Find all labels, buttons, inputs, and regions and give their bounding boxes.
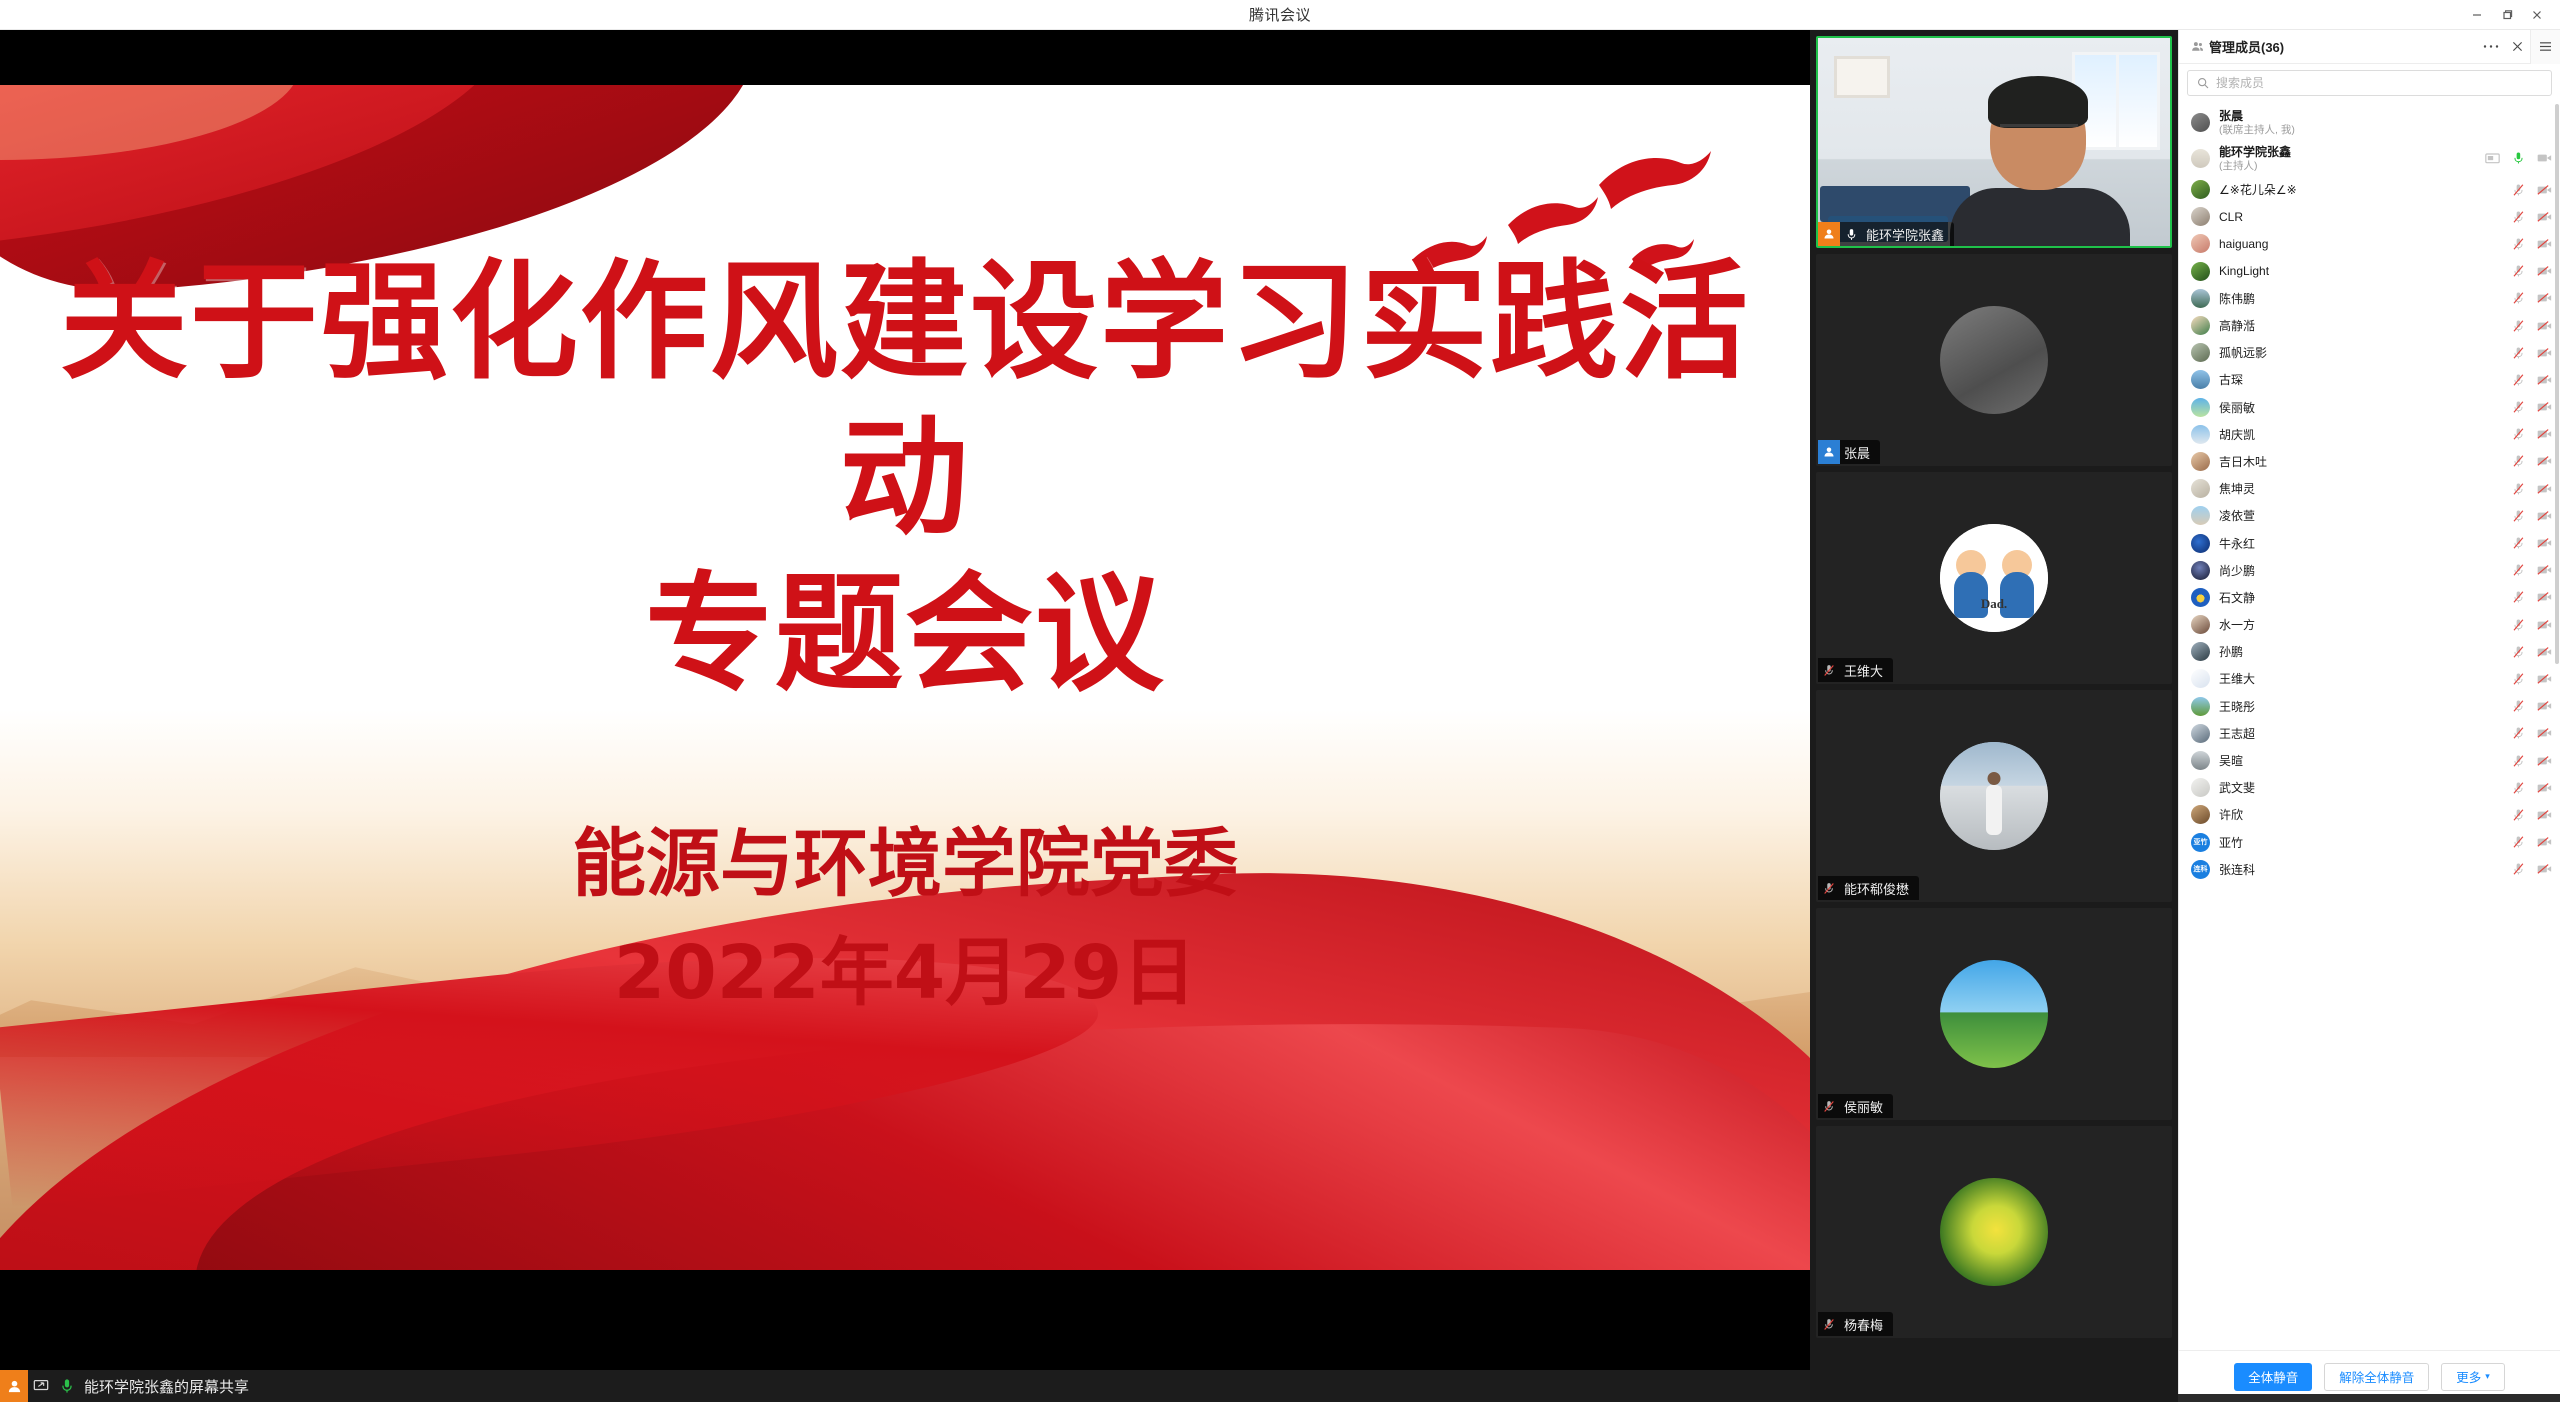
mic-muted-icon (1818, 1094, 1840, 1118)
panel-header-actions (2478, 30, 2560, 64)
camera-off-icon[interactable] (2537, 318, 2552, 333)
window-titlebar: 腾讯会议 (0, 0, 2560, 30)
participant-name: 孙鹏 (2219, 643, 2243, 660)
mic-muted-icon[interactable] (2511, 236, 2526, 251)
participant-name: 焦坤灵 (2219, 480, 2255, 497)
glasses (2000, 124, 2078, 139)
participant-name: 石文静 (2219, 589, 2255, 606)
mic-muted-icon (1818, 1312, 1840, 1336)
avatar: 连科 (2191, 860, 2210, 879)
camera-off-icon[interactable] (2537, 726, 2552, 741)
video-tile[interactable]: 杨春梅 (1816, 1126, 2172, 1338)
camera-off-icon[interactable] (2537, 481, 2552, 496)
panel-bottom-strip (2178, 1394, 2560, 1402)
participant-row[interactable]: 吉日木吐 (2179, 448, 2560, 475)
mic-muted-icon[interactable] (2511, 454, 2526, 469)
participant-row[interactable]: 许欣 (2179, 801, 2560, 828)
screen-share-icon (28, 1370, 54, 1402)
participant-info: 高静湉 (2219, 317, 2255, 334)
participant-info: 孙鹏 (2219, 643, 2243, 660)
participant-name: ∠※花儿朵∠※ (2219, 181, 2297, 198)
participant-row[interactable]: 能环学院张鑫(主持人) (2179, 140, 2560, 176)
participant-status-icons (2511, 400, 2552, 415)
participant-row[interactable]: 焦坤灵 (2179, 475, 2560, 502)
participant-name: 尚少鹏 (2219, 562, 2255, 579)
more-button-label: 更多 (2456, 1367, 2481, 1386)
participant-row[interactable]: 胡庆凯 (2179, 421, 2560, 448)
hamburger-menu-icon[interactable] (2530, 30, 2560, 64)
camera-off-icon[interactable] (2537, 427, 2552, 442)
camera-off-icon[interactable] (2537, 753, 2552, 768)
avatar (2191, 615, 2210, 634)
participant-name: 古琛 (2219, 371, 2243, 388)
participant-row[interactable]: 张晨(联席主持人, 我) (2179, 104, 2560, 140)
minimize-button[interactable] (2462, 0, 2492, 30)
mic-muted-icon[interactable] (2511, 400, 2526, 415)
screen-share-status-bar: 能环学院张鑫的屏幕共享 (0, 1370, 1810, 1402)
avatar (2191, 289, 2210, 308)
participant-row[interactable]: ∠※花儿朵∠※ (2179, 176, 2560, 203)
window-controls (2462, 0, 2552, 30)
participant-info: 张连科 (2219, 861, 2255, 878)
camera-off-icon[interactable] (2537, 291, 2552, 306)
camera-off-icon[interactable] (2537, 400, 2552, 415)
mute-all-button[interactable]: 全体静音 (2234, 1363, 2312, 1391)
participant-info: CLR (2219, 210, 2243, 224)
participant-info: 吴暄 (2219, 752, 2243, 769)
avatar (2191, 534, 2210, 553)
participant-name: 能环学院张鑫 (2219, 143, 2291, 160)
meeting-window-body: 关于强化作风建设学习实践活动 专题会议 能源与环境学院党委 2022年4月29日… (0, 30, 2560, 1402)
avatar (2191, 398, 2210, 417)
microphone-icon (54, 1370, 80, 1402)
avatar (2191, 724, 2210, 743)
participant-name: KingLight (2219, 264, 2269, 278)
participant-name: 牛永红 (2219, 535, 2255, 552)
camera-off-icon[interactable] (2537, 182, 2552, 197)
slide-subtitle: 能源与环境学院党委 (0, 815, 1810, 915)
avatar (1940, 960, 2048, 1068)
camera-off-icon[interactable] (2537, 236, 2552, 251)
video-tile-name: 侯丽敏 (1840, 1097, 1883, 1116)
participant-status-icons (2511, 617, 2552, 632)
participant-info: 侯丽敏 (2219, 399, 2255, 416)
camera-off-icon[interactable] (2537, 590, 2552, 605)
video-tile[interactable]: 侯丽敏 (1816, 908, 2172, 1120)
mic-muted-icon[interactable] (2511, 291, 2526, 306)
participant-name: 高静湉 (2219, 317, 2255, 334)
video-tile-name: 能环郗俊懋 (1840, 879, 1909, 898)
mic-muted-icon[interactable] (2511, 807, 2526, 822)
person-body (1950, 188, 2130, 248)
participant-row[interactable]: 石文静 (2179, 584, 2560, 611)
mic-muted-icon[interactable] (2511, 318, 2526, 333)
video-tile-name: 能环学院张鑫 (1862, 225, 1944, 244)
participant-row[interactable]: 水一方 (2179, 611, 2560, 638)
video-tile-name: 王维大 (1840, 661, 1883, 680)
participant-status-icons (2511, 291, 2552, 306)
camera-off-icon[interactable] (2537, 807, 2552, 822)
participant-info: 胡庆凯 (2219, 426, 2255, 443)
mic-muted-icon[interactable] (2511, 699, 2526, 714)
close-button[interactable] (2522, 0, 2552, 30)
mic-muted-icon[interactable] (2511, 753, 2526, 768)
participant-name: 吴暄 (2219, 752, 2243, 769)
mic-muted-icon[interactable] (2511, 481, 2526, 496)
video-tile-label: 杨春梅 (1818, 1312, 1893, 1336)
dove-icon (1505, 193, 1601, 249)
participant-status-icons (2511, 726, 2552, 741)
wall-picture (1834, 56, 1890, 98)
user-badge-icon (1818, 440, 1840, 464)
video-tile[interactable]: 能环郗俊懋 (1816, 690, 2172, 902)
participant-row[interactable]: 尚少鹏 (2179, 557, 2560, 584)
window-title: 腾讯会议 (1249, 4, 1311, 25)
camera-off-icon[interactable] (2537, 264, 2552, 279)
participant-status-icons (2511, 236, 2552, 251)
participant-name: 王志超 (2219, 725, 2255, 742)
mic-muted-icon[interactable] (2511, 209, 2526, 224)
participant-status-icons (2511, 372, 2552, 387)
participant-row[interactable]: 王志超 (2179, 720, 2560, 747)
participant-name: 凌依萱 (2219, 507, 2255, 524)
camera-off-icon[interactable] (2537, 699, 2552, 714)
camera-off-icon[interactable] (2537, 835, 2552, 850)
participant-name: 王维大 (2219, 670, 2255, 687)
participant-status-icons (2511, 671, 2552, 686)
camera-off-icon[interactable] (2537, 372, 2552, 387)
unmute-all-button[interactable]: 解除全体静音 (2324, 1363, 2429, 1391)
participant-row[interactable]: 牛永红 (2179, 529, 2560, 556)
chevron-down-icon: ▾ (2485, 1371, 2490, 1382)
participant-row[interactable]: 武文斐 (2179, 774, 2560, 801)
avatar (2191, 316, 2210, 335)
avatar (2191, 506, 2210, 525)
video-tile[interactable]: Dad. 王维大 (1816, 472, 2172, 684)
camera-off-icon[interactable] (2537, 563, 2552, 578)
mic-muted-icon[interactable] (2511, 780, 2526, 795)
avatar-caption: Dad. (1981, 596, 2007, 612)
slide-title-line-2: 专题会议 (0, 557, 1810, 713)
video-tile-label: 能环学院张鑫 (1818, 222, 1954, 246)
avatar (2191, 370, 2210, 389)
video-tile-name: 张晨 (1840, 443, 1870, 462)
participant-status-icons (2511, 563, 2552, 578)
camera-off-icon[interactable] (2537, 862, 2552, 877)
user-badge-icon (0, 1370, 28, 1402)
shared-screen-area: 关于强化作风建设学习实践活动 专题会议 能源与环境学院党委 2022年4月29日… (0, 30, 1810, 1402)
participant-row[interactable]: 王维大 (2179, 665, 2560, 692)
avatar (2191, 234, 2210, 253)
slide-title-line-1: 关于强化作风建设学习实践活动 (0, 245, 1810, 557)
mic-muted-icon[interactable] (2511, 345, 2526, 360)
mic-on-icon (1840, 222, 1862, 246)
mic-muted-icon[interactable] (2511, 264, 2526, 279)
participant-name: 吉日木吐 (2219, 453, 2267, 470)
participant-name: 陈伟鹏 (2219, 290, 2255, 307)
avatar (1940, 1178, 2048, 1286)
avatar (2191, 262, 2210, 281)
dove-icon (1595, 145, 1715, 215)
participant-row[interactable]: 高静湉 (2179, 312, 2560, 339)
avatar (2191, 561, 2210, 580)
avatar (1940, 742, 2048, 850)
participant-info: 能环学院张鑫(主持人) (2219, 143, 2291, 173)
participant-role: (主持人) (2219, 160, 2291, 173)
participant-name: 许欣 (2219, 806, 2243, 823)
person-hair (1988, 76, 2088, 128)
avatar (2191, 697, 2210, 716)
avatar (2191, 805, 2210, 824)
participant-info: 古琛 (2219, 371, 2243, 388)
participant-row[interactable]: KingLight (2179, 258, 2560, 285)
participant-status-icons (2511, 508, 2552, 523)
participant-name: 侯丽敏 (2219, 399, 2255, 416)
camera-off-icon[interactable] (2537, 345, 2552, 360)
participant-status-icons (2511, 835, 2552, 850)
avatar (2191, 751, 2210, 770)
participant-row[interactable]: 孙鹏 (2179, 638, 2560, 665)
panel-header: 管理成员(36) (2179, 30, 2560, 64)
mic-muted-icon[interactable] (2511, 536, 2526, 551)
participant-row[interactable]: 古琛 (2179, 366, 2560, 393)
mic-muted-icon (1818, 876, 1840, 900)
participant-name: 胡庆凯 (2219, 426, 2255, 443)
avatar (2191, 207, 2210, 226)
video-tile-label: 侯丽敏 (1818, 1094, 1893, 1118)
video-tile-label: 能环郗俊懋 (1818, 876, 1919, 900)
participant-info: 王维大 (2219, 670, 2255, 687)
panel-title: 管理成员(36) (2209, 37, 2284, 56)
camera-off-icon[interactable] (2537, 209, 2552, 224)
participant-status-icons (2511, 427, 2552, 442)
people-icon (2189, 39, 2205, 55)
participant-row[interactable]: 连科张连科 (2179, 856, 2560, 883)
participant-info: 水一方 (2219, 616, 2255, 633)
more-button[interactable]: 更多 ▾ (2441, 1363, 2505, 1391)
avatar (2191, 180, 2210, 199)
participant-status-icons (2511, 318, 2552, 333)
participant-info: 张晨(联席主持人, 我) (2219, 107, 2295, 137)
participant-row[interactable]: 侯丽敏 (2179, 394, 2560, 421)
participant-info: haiguang (2219, 237, 2268, 251)
mic-muted-icon[interactable] (2511, 671, 2526, 686)
avatar: 亚竹 (2191, 833, 2210, 852)
participant-status-icons (2511, 807, 2552, 822)
mic-muted-icon[interactable] (2511, 563, 2526, 578)
participant-status-icons (2511, 644, 2552, 659)
participant-name: 武文斐 (2219, 779, 2255, 796)
search-container (2179, 64, 2560, 100)
participant-row[interactable]: 孤帆远影 (2179, 339, 2560, 366)
participant-status-icons (2511, 481, 2552, 496)
panel-scrollbar-track[interactable] (2554, 100, 2560, 1340)
mic-muted-icon[interactable] (2511, 644, 2526, 659)
avatar (2191, 452, 2210, 471)
participant-row[interactable]: 王晓彤 (2179, 693, 2560, 720)
participant-name: haiguang (2219, 237, 2268, 251)
search-icon (2196, 76, 2210, 90)
avatar (2191, 642, 2210, 661)
mic-muted-icon[interactable] (2511, 508, 2526, 523)
participant-info: 牛永红 (2219, 535, 2255, 552)
slide-date: 2022年4月29日 (0, 913, 1810, 1020)
avatar (2191, 425, 2210, 444)
video-tile-name: 杨春梅 (1840, 1315, 1883, 1334)
avatar (2191, 149, 2210, 168)
manage-members-panel: 管理成员(36) 张晨(联席主持人, 我)能环学院张 (2178, 30, 2560, 1402)
person-figure (1986, 785, 2002, 835)
participant-name: 亚竹 (2219, 834, 2243, 851)
participant-status-icons (2511, 862, 2552, 877)
participant-status-icons (2511, 753, 2552, 768)
mic-muted-icon[interactable] (2511, 835, 2526, 850)
camera-off-icon[interactable] (2537, 780, 2552, 795)
presentation-slide: 关于强化作风建设学习实践活动 专题会议 能源与环境学院党委 2022年4月29日 (0, 85, 1810, 1270)
participant-role: (联席主持人, 我) (2219, 124, 2295, 137)
slide-title: 关于强化作风建设学习实践活动 专题会议 (0, 245, 1810, 713)
participant-info: KingLight (2219, 264, 2269, 278)
participant-row[interactable]: haiguang (2179, 230, 2560, 257)
camera-off-icon[interactable] (2537, 644, 2552, 659)
avatar-standing-photo (1940, 742, 2048, 850)
mic-muted-icon[interactable] (2511, 372, 2526, 387)
participant-info: 尚少鹏 (2219, 562, 2255, 579)
avatar (2191, 588, 2210, 607)
participant-info: 吉日木吐 (2219, 453, 2267, 470)
video-thumbnail-strip[interactable]: 能环学院张鑫 张晨 Dad. (1810, 30, 2178, 1402)
participant-row[interactable]: 凌依萱 (2179, 502, 2560, 529)
video-tile[interactable]: 能环学院张鑫 (1816, 36, 2172, 248)
participant-row[interactable]: 亚竹亚竹 (2179, 829, 2560, 856)
video-tile-label: 王维大 (1818, 658, 1893, 682)
camera-off-icon[interactable] (2537, 454, 2552, 469)
camera-off-icon[interactable] (2537, 671, 2552, 686)
participant-status-icons (2511, 699, 2552, 714)
participant-info: ∠※花儿朵∠※ (2219, 181, 2297, 198)
mic-muted-icon[interactable] (2511, 617, 2526, 632)
avatar (1940, 306, 2048, 414)
participant-info: 陈伟鹏 (2219, 290, 2255, 307)
avatar (2191, 113, 2210, 132)
mic-muted-icon[interactable] (2511, 862, 2526, 877)
share-status-text: 能环学院张鑫的屏幕共享 (80, 1376, 249, 1397)
camera-off-icon[interactable] (2537, 617, 2552, 632)
video-feed (1818, 38, 2170, 246)
panel-scrollbar-thumb[interactable] (2555, 104, 2559, 664)
participant-status-icons (2511, 182, 2552, 197)
participant-name: 张连科 (2219, 861, 2255, 878)
participant-name: 王晓彤 (2219, 698, 2255, 715)
participant-info: 武文斐 (2219, 779, 2255, 796)
participant-status-icons (2511, 264, 2552, 279)
avatar (2191, 343, 2210, 362)
mic-muted-icon[interactable] (2511, 182, 2526, 197)
participant-name: CLR (2219, 210, 2243, 224)
share-status-chip: 能环学院张鑫的屏幕共享 (0, 1370, 261, 1402)
participant-info: 许欣 (2219, 806, 2243, 823)
participant-name: 张晨 (2219, 107, 2295, 124)
camera-off-icon[interactable] (2537, 508, 2552, 523)
mic-muted-icon (1818, 658, 1840, 682)
participant-info: 王志超 (2219, 725, 2255, 742)
camera-off-icon[interactable] (2537, 536, 2552, 551)
participant-info: 王晓彤 (2219, 698, 2255, 715)
mic-muted-icon[interactable] (2511, 427, 2526, 442)
avatar (2191, 669, 2210, 688)
avatar: Dad. (1940, 524, 2048, 632)
video-tile[interactable]: 张晨 (1816, 254, 2172, 466)
participant-status-icons (2511, 454, 2552, 469)
mic-muted-icon[interactable] (2511, 590, 2526, 605)
participant-row[interactable]: 陈伟鹏 (2179, 285, 2560, 312)
close-icon[interactable] (2504, 30, 2530, 64)
participant-info: 孤帆远影 (2219, 344, 2267, 361)
search-box[interactable] (2187, 70, 2552, 96)
participant-status-icons (2511, 209, 2552, 224)
avatar (2191, 479, 2210, 498)
search-input[interactable] (2216, 76, 2543, 90)
participant-status-icons (2511, 536, 2552, 551)
camera-off-icon[interactable] (2537, 151, 2552, 166)
participant-status-icons (2511, 780, 2552, 795)
video-tile-label: 张晨 (1818, 440, 1880, 464)
more-horizontal-icon[interactable] (2478, 30, 2504, 64)
participant-list[interactable]: 张晨(联席主持人, 我)能环学院张鑫(主持人)∠※花儿朵∠※CLRhaiguan… (2179, 100, 2560, 1350)
maximize-button[interactable] (2492, 0, 2522, 30)
participant-status-icons (2511, 345, 2552, 360)
participant-row[interactable]: 吴暄 (2179, 747, 2560, 774)
participant-info: 石文静 (2219, 589, 2255, 606)
participant-name: 水一方 (2219, 616, 2255, 633)
mic-on-icon[interactable] (2511, 151, 2526, 166)
avatar (2191, 778, 2210, 797)
participant-info: 焦坤灵 (2219, 480, 2255, 497)
screen-share-icon[interactable] (2485, 151, 2500, 166)
participant-status-icons (2511, 590, 2552, 605)
participant-info: 亚竹 (2219, 834, 2243, 851)
avatar-kids-illustration: Dad. (1940, 524, 2048, 632)
participant-name: 孤帆远影 (2219, 344, 2267, 361)
participant-row[interactable]: CLR (2179, 203, 2560, 230)
participant-status-icons (2485, 151, 2552, 166)
user-badge-icon (1818, 222, 1840, 246)
participant-info: 凌依萱 (2219, 507, 2255, 524)
mic-muted-icon[interactable] (2511, 726, 2526, 741)
